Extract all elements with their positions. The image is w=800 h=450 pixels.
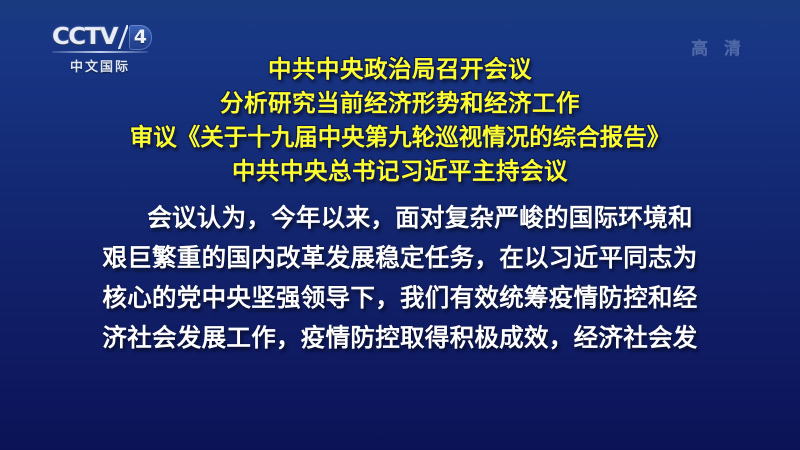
headline-block: 中共中央政治局召开会议 分析研究当前经济形势和经济工作 审议《关于十九届中央第九… xyxy=(0,52,800,188)
body-line-2: 艰巨繁重的国内改革发展稳定任务，在以习近平同志为 xyxy=(0,238,800,278)
headline-line-3: 审议《关于十九届中央第九轮巡视情况的综合报告》 xyxy=(0,120,800,154)
body-text-block: 会议认为，今年以来，面对复杂严峻的国际环境和 艰巨繁重的国内改革发展稳定任务，在… xyxy=(0,198,800,358)
cctv-wordmark: CCTV xyxy=(52,24,117,50)
broadcast-screen: CCTV 4 中文国际 高 清 中共中央政治局召开会议 分析研究当前经济形势和经… xyxy=(0,0,800,450)
logo-wordmark-row: CCTV 4 xyxy=(52,24,152,50)
body-line-3: 核心的党中央坚强领导下，我们有效统筹疫情防控和经 xyxy=(0,278,800,318)
logo-slash-icon xyxy=(118,25,127,49)
body-line-1: 会议认为，今年以来，面对复杂严峻的国际环境和 xyxy=(0,198,800,238)
body-line-4: 济社会发展工作，疫情防控取得积极成效，经济社会发 xyxy=(0,318,800,358)
headline-line-1: 中共中央政治局召开会议 xyxy=(0,52,800,86)
channel-number-badge: 4 xyxy=(129,25,152,50)
headline-line-4: 中共中央总书记习近平主持会议 xyxy=(0,154,800,188)
channel-number-label: 4 xyxy=(134,28,147,47)
headline-line-2: 分析研究当前经济形势和经济工作 xyxy=(0,86,800,120)
